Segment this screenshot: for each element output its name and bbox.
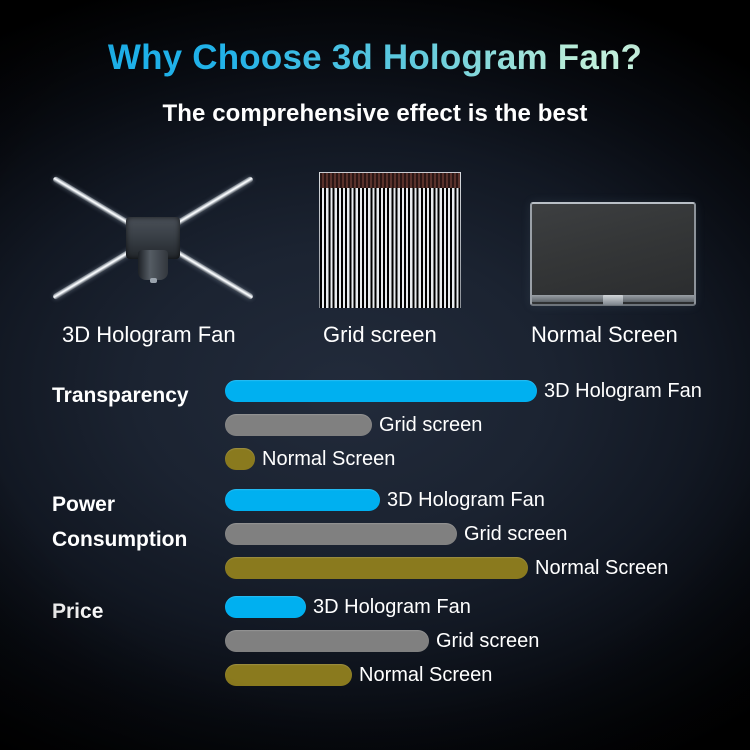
bar-label: Grid screen (436, 630, 539, 653)
bar-row: Grid screen (225, 628, 745, 654)
tv-stand (603, 295, 623, 305)
bar-row: Normal Screen (225, 555, 745, 581)
product-caption-normal-screen: Normal Screen (531, 322, 678, 348)
bar-grid-screen (225, 630, 429, 652)
bar-grid-screen (225, 523, 457, 545)
bar-row: Grid screen (225, 521, 745, 547)
normal-screen-tv-image (530, 202, 696, 306)
bar-hologram-fan (225, 380, 537, 402)
bar-row: Grid screen (225, 412, 745, 438)
metric-label: Transparency (52, 378, 222, 413)
comparison-infographic: Why Choose 3d Hologram Fan? The comprehe… (0, 0, 750, 750)
page-subtitle: The comprehensive effect is the best (0, 100, 750, 128)
page-title: Why Choose 3d Hologram Fan? (0, 38, 750, 78)
bar-label: Grid screen (379, 414, 482, 437)
metric-bars: 3D Hologram Fan Grid screen Normal Scree… (225, 487, 745, 589)
metric-bars: 3D Hologram Fan Grid screen Normal Scree… (225, 378, 745, 480)
bar-label: Grid screen (464, 523, 567, 546)
metric-label: Price (52, 594, 222, 629)
bar-row: Normal Screen (225, 446, 745, 472)
grid-led-mesh (320, 188, 460, 308)
product-caption-grid-screen: Grid screen (323, 322, 437, 348)
bar-normal-screen (225, 448, 255, 470)
bar-normal-screen (225, 664, 352, 686)
bar-row: 3D Hologram Fan (225, 594, 745, 620)
product-caption-hologram-fan: 3D Hologram Fan (62, 322, 236, 348)
metric-bars: 3D Hologram Fan Grid screen Normal Scree… (225, 594, 745, 696)
bar-row: 3D Hologram Fan (225, 487, 745, 513)
bar-row: Normal Screen (225, 662, 745, 688)
bar-label: Normal Screen (262, 448, 395, 471)
bar-grid-screen (225, 414, 372, 436)
bar-label: Normal Screen (359, 664, 492, 687)
bar-hologram-fan (225, 489, 380, 511)
hologram-fan-image (48, 168, 258, 308)
bar-label: Normal Screen (535, 557, 668, 580)
bar-row: 3D Hologram Fan (225, 378, 745, 404)
bar-label: 3D Hologram Fan (313, 596, 471, 619)
bar-label: 3D Hologram Fan (387, 489, 545, 512)
grid-header-bar (320, 172, 460, 188)
metric-label: Power Consumption (52, 487, 222, 557)
grid-screen-image (320, 172, 460, 308)
bar-hologram-fan (225, 596, 306, 618)
fan-motor-icon (138, 250, 168, 280)
fan-base-icon (150, 278, 157, 283)
bar-label: 3D Hologram Fan (544, 380, 702, 403)
bar-normal-screen (225, 557, 528, 579)
tv-bezel (530, 202, 696, 306)
